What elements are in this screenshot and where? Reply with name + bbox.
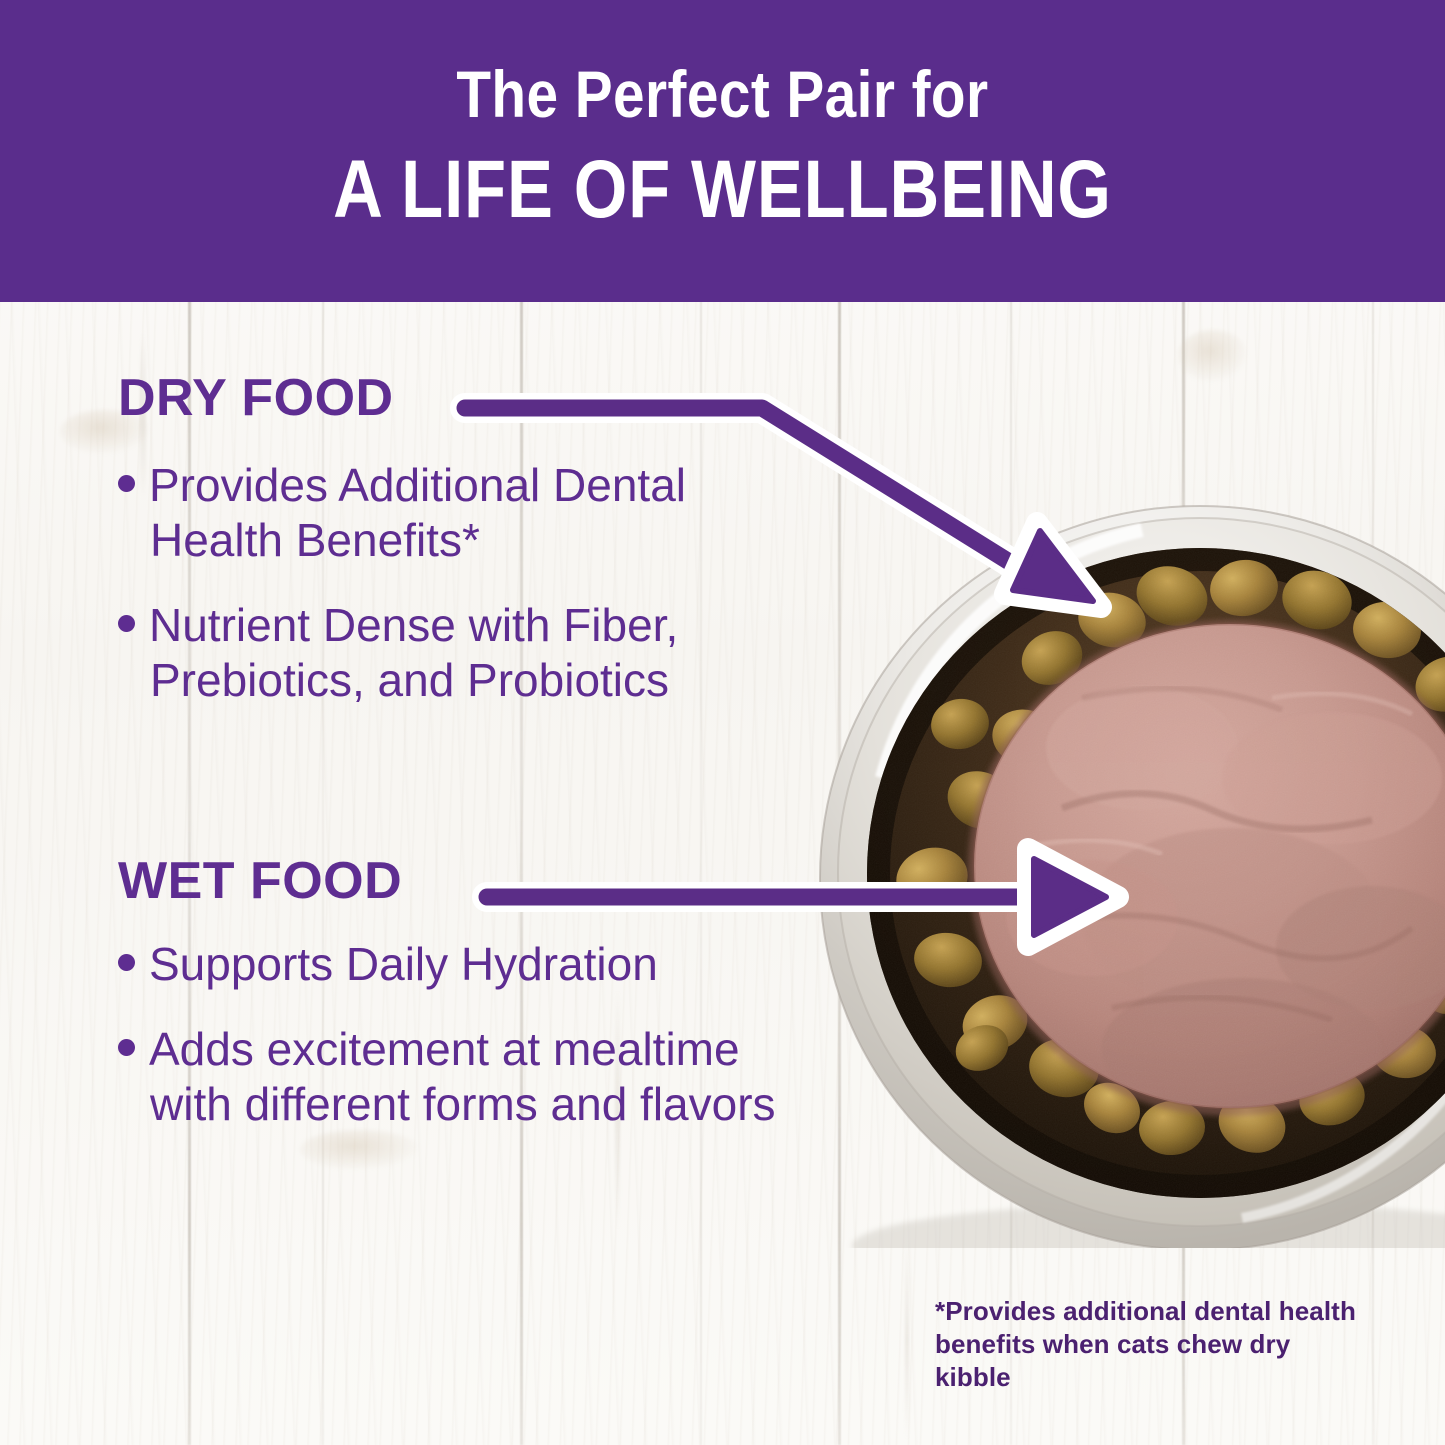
list-item: Adds excitement at mealtime with differe… (118, 1022, 778, 1132)
dry-food-bullet-list: Provides Additional Dental Health Benefi… (118, 458, 778, 708)
header-banner: The Perfect Pair for A LIFE OF WELLBEING (0, 0, 1445, 302)
list-item: Supports Daily Hydration (118, 937, 778, 992)
footnote-text: *Provides additional dental health benef… (935, 1295, 1365, 1394)
bullet-text: Supports Daily Hydration (149, 938, 658, 990)
page-title: A LIFE OF WELLBEING (333, 149, 1112, 231)
wet-food-bullet-list: Supports Daily Hydration Adds excitement… (118, 937, 778, 1132)
bullet-text: Nutrient Dense with Fiber, Prebiotics, a… (149, 599, 678, 706)
wood-knot (300, 1130, 420, 1170)
dry-food-heading: DRY FOOD (118, 372, 778, 424)
bullet-dot-icon (118, 1039, 135, 1056)
bullet-dot-icon (118, 954, 135, 971)
header-line-1: The Perfect Pair for (456, 61, 988, 127)
wood-grain (905, 1240, 909, 1440)
bullet-text: Adds excitement at mealtime with differe… (149, 1023, 776, 1130)
infographic-canvas: The Perfect Pair for A LIFE OF WELLBEING (0, 0, 1445, 1445)
wet-food-section: WET FOOD Supports Daily Hydration Adds e… (118, 855, 778, 1132)
bullet-dot-icon (118, 615, 135, 632)
dry-food-section: DRY FOOD Provides Additional Dental Heal… (118, 372, 778, 708)
wood-knot (1178, 330, 1248, 382)
wet-food-heading: WET FOOD (118, 855, 778, 907)
bullet-text: Provides Additional Dental Health Benefi… (149, 459, 686, 566)
list-item: Provides Additional Dental Health Benefi… (118, 458, 778, 568)
bullet-dot-icon (118, 475, 135, 492)
list-item: Nutrient Dense with Fiber, Prebiotics, a… (118, 598, 778, 708)
pet-food-bowl-image (812, 448, 1445, 1248)
